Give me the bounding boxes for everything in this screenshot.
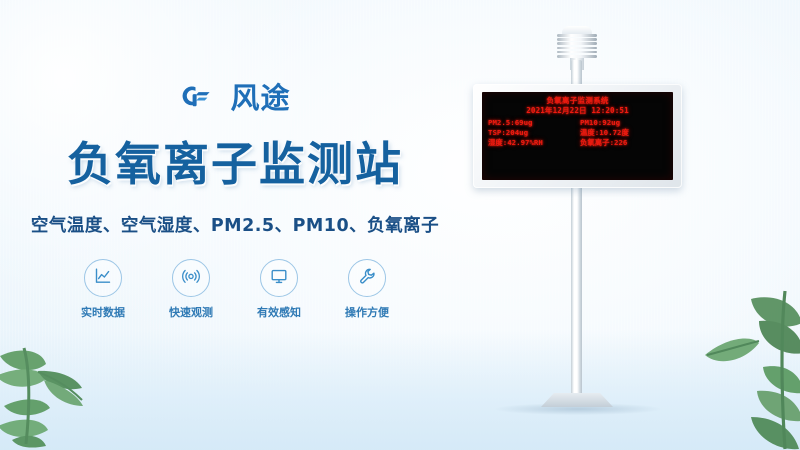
feature-icon-wrap [260,259,298,297]
monitor-screen-icon [269,266,289,291]
feature-item-fast-observation[interactable]: 快速观测 [160,259,222,320]
radar-signal-icon [181,266,201,291]
feature-item-effective-sensing[interactable]: 有效感知 [248,259,310,320]
hero-text-panel: 风途 负氧离子监测站 空气温度、空气湿度、PM2.5、PM10、负氧离子 实时数… [0,78,470,320]
fengtu-g-logo-icon [179,83,223,114]
led-reading-pm25: PM2.5:69ug [488,118,576,127]
led-reading-humid: 湿度:42.97%RH [488,138,576,147]
feature-label: 操作方便 [336,304,398,320]
background-bottom-band [0,330,800,450]
feature-item-easy-operation[interactable]: 操作方便 [336,259,398,320]
brand-logo: 风途 [0,78,470,118]
led-display-screen[interactable]: 负氧离子监测系统 2021年12月22日 12:20:51 PM2.5:69ug… [482,92,673,180]
line-chart-icon [93,266,113,291]
led-reading-tsp: TSP:204ug [488,128,576,137]
feature-icon-wrap [84,259,122,297]
feature-label: 快速观测 [160,304,222,320]
sensor-fins [557,34,597,59]
wrench-icon [357,266,377,291]
led-display-frame: 负氧离子监测系统 2021年12月22日 12:20:51 PM2.5:69ug… [473,84,682,188]
feature-label: 有效感知 [248,304,310,320]
led-datetime: 2021年12月22日 12:20:51 [487,106,668,115]
decorative-plant-left [0,314,134,450]
feature-list: 实时数据 快速观测 [0,259,470,320]
poster-canvas: 风途 负氧离子监测站 空气温度、空气湿度、PM2.5、PM10、负氧离子 实时数… [0,0,800,450]
feature-label: 实时数据 [72,304,134,320]
led-reading-anion: 负氧离子:226 [580,138,668,147]
feature-item-realtime-data[interactable]: 实时数据 [72,259,134,320]
feature-icon-wrap [172,259,210,297]
feature-icon-wrap [348,259,386,297]
decorative-plant-right [689,281,800,450]
pole-base-plate [541,393,613,407]
brand-logo-text: 风途 [230,84,290,113]
page-subtitle: 空气温度、空气湿度、PM2.5、PM10、负氧离子 [0,212,470,237]
led-readings-grid: PM2.5:69ug PM10:92ug TSP:204ug 温度:10.72度… [487,118,668,147]
led-reading-temp: 温度:10.72度 [580,128,668,137]
led-title: 负氧离子监测系统 [487,96,668,105]
led-reading-pm10: PM10:92ug [580,118,668,127]
page-title: 负氧离子监测站 [0,128,470,194]
